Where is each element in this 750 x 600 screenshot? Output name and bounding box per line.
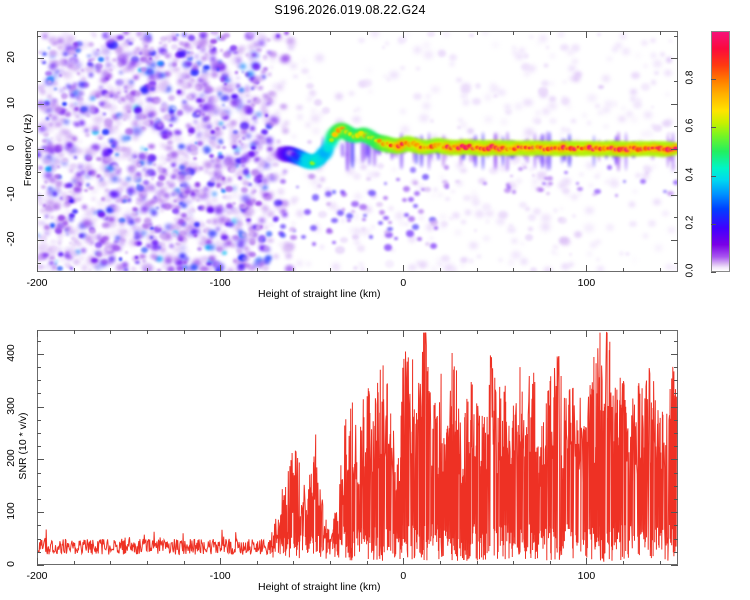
- spectrogram-cell: [306, 123, 311, 127]
- spectrogram-cell: [618, 148, 621, 150]
- spectrogram-cell: [474, 229, 477, 232]
- spectrogram-cell: [78, 91, 84, 96]
- spectrogram-cell: [646, 146, 652, 151]
- spectrogram-cell: [294, 153, 307, 163]
- xtick-minor: [110, 268, 111, 272]
- spectrogram-cell: [150, 186, 155, 190]
- spectrogram-cell: [146, 244, 151, 248]
- snr-panel[interactable]: [37, 330, 678, 565]
- spectrogram-cell: [155, 98, 161, 103]
- spectrogram-cell: [143, 260, 145, 262]
- spectrogram-cell: [251, 80, 254, 82]
- spectrogram-sidelobe: [563, 139, 566, 161]
- spectrogram-cell: [506, 183, 511, 187]
- spectrogram-cell: [256, 146, 262, 151]
- spectrogram-cell: [100, 143, 109, 150]
- spectrogram-cell: [201, 48, 205, 51]
- spectrogram-cell: [112, 164, 118, 169]
- spectrogram-cell: [543, 148, 547, 151]
- spectrogram-cell: [429, 144, 435, 149]
- spectrogram-cell: [222, 177, 226, 180]
- spectrogram-cell: [188, 107, 194, 112]
- spectrogram-cell: [118, 115, 122, 119]
- spectrogram-cell: [557, 144, 569, 154]
- spectrogram-cell: [351, 156, 357, 161]
- spectrogram-cell: [118, 54, 125, 59]
- spectrogram-cell: [169, 152, 177, 159]
- spectrogram-cell: [113, 245, 118, 249]
- spectrogram-cell: [126, 40, 129, 43]
- spectrogram-cell: [655, 245, 662, 251]
- spectrogram-cell: [215, 105, 223, 112]
- spectrogram-cell: [392, 143, 398, 148]
- spectrogram-cell: [244, 212, 251, 218]
- spectrogram-cell: [276, 32, 280, 35]
- spectrogram-cell: [521, 242, 524, 245]
- spectrogram-cell: [160, 194, 168, 201]
- spectrogram-cell: [104, 157, 111, 163]
- spectrogram-cell: [446, 143, 458, 153]
- spectrogram-cell: [182, 100, 186, 104]
- spectrogram-cell: [642, 144, 655, 154]
- spectrogram-cell: [591, 148, 595, 151]
- spectrogram-cell: [513, 148, 516, 150]
- spectrogram-cell: [429, 237, 434, 241]
- spectrogram-cell: [280, 209, 286, 214]
- spectrogram-cell: [125, 93, 135, 101]
- spectrogram-cell: [142, 115, 147, 119]
- colorbar[interactable]: [711, 31, 730, 272]
- xtick-major: [37, 265, 38, 272]
- spectrogram-cell: [206, 262, 212, 267]
- spectrogram-cell: [211, 31, 218, 36]
- spectrogram-cell: [188, 127, 195, 133]
- spectrogram-cell: [65, 229, 67, 231]
- spectrogram-cell: [170, 68, 175, 72]
- spectrogram-cell: [218, 63, 223, 67]
- spectrogram-cell: [301, 156, 313, 166]
- spectrogram-sidelobe: [462, 141, 465, 160]
- spectrogram-cell: [238, 254, 247, 261]
- spectrogram-cell: [262, 206, 268, 211]
- spectrogram-cell: [187, 56, 194, 61]
- spectrogram-cell: [430, 145, 434, 148]
- spectrogram-sidelobe: [536, 142, 539, 158]
- spectrogram-cell: [615, 154, 624, 161]
- spectrogram-cell: [50, 178, 57, 184]
- spectrogram-cell: [413, 142, 425, 152]
- spectrogram-cell: [69, 103, 75, 108]
- spectrogram-cell: [164, 255, 173, 263]
- spectrogram-cell: [373, 144, 379, 149]
- spectrogram-cell: [99, 137, 102, 140]
- ytick-label: 0: [5, 130, 17, 166]
- spectrogram-cell: [382, 139, 397, 151]
- xtick-minor: [440, 561, 441, 565]
- spectrogram-cell: [460, 122, 468, 128]
- spectrogram-cell: [183, 161, 189, 166]
- spectrogram-cell: [631, 72, 640, 80]
- spectrogram-cell: [375, 135, 383, 142]
- spectrogram-cell: [272, 94, 277, 98]
- spectrogram-cell: [84, 83, 89, 87]
- spectrogram-cell: [63, 247, 71, 254]
- spectrogram-cell: [73, 122, 76, 124]
- spectrogram-cell: [146, 240, 152, 245]
- spectrogram-cell: [593, 143, 607, 154]
- spectrogram-cell: [348, 131, 359, 140]
- spectrogram-cell: [125, 128, 133, 135]
- spectrogram-cell: [428, 143, 437, 150]
- spectrogram-cell: [77, 242, 83, 247]
- spectrogram-cell: [42, 222, 44, 224]
- spectrogram-cell: [54, 88, 56, 90]
- spectrogram-cell: [90, 91, 99, 98]
- spectrogram-cell: [651, 80, 656, 84]
- spectrogram-cell: [38, 166, 43, 170]
- spectrogram-cell: [344, 130, 349, 134]
- spectrogram-cell: [96, 68, 101, 72]
- spectrogram-cell: [51, 60, 60, 67]
- spectrogram-cell: [181, 203, 188, 208]
- spectrogram-cell: [96, 174, 101, 178]
- spectrogram-cell: [222, 236, 231, 243]
- spectrogram-cell: [206, 121, 212, 126]
- spectrogram-cell: [248, 265, 255, 271]
- spectrogram-cell: [244, 247, 248, 251]
- spectrogram-cell: [497, 143, 508, 152]
- spectrogram-cell: [70, 170, 73, 172]
- spectrogram-cell: [361, 130, 376, 142]
- spectrogram-cell: [205, 239, 212, 245]
- spectrogram-cell: [127, 82, 130, 84]
- spectrogram-cell: [204, 85, 211, 91]
- spectrogram-cell: [190, 264, 198, 270]
- xtick-major: [586, 265, 587, 272]
- xtick-minor: [330, 561, 331, 565]
- spectrogram-cell: [270, 66, 274, 69]
- spectrogram-cell: [346, 168, 355, 175]
- spectrogram-cell: [39, 105, 46, 111]
- spectrogram-sidelobe: [430, 141, 433, 158]
- spectrogram-cell: [483, 236, 489, 241]
- spectrogram-cell: [168, 114, 177, 121]
- spectrogram-cell: [385, 232, 393, 238]
- spectrogram-cell: [419, 114, 429, 122]
- spectrogram-cell: [593, 144, 602, 151]
- spectrogram-cell: [69, 49, 76, 55]
- spectrogram-cell: [246, 218, 251, 222]
- spectrogram-cell: [256, 226, 260, 229]
- spectrogram-cell: [268, 127, 271, 129]
- spectrogram-cell: [156, 76, 160, 79]
- spectrogram-cell: [267, 149, 270, 151]
- spectrogram-cell: [363, 134, 367, 137]
- spectrogram-cell: [259, 225, 263, 228]
- spectrogram-cell: [220, 94, 224, 97]
- spectrogram-cell: [154, 196, 157, 198]
- spectrogram-cell: [231, 218, 239, 224]
- spectrogram-cell: [45, 139, 48, 142]
- spectrogram-cell: [255, 235, 258, 238]
- spectrogram-cell: [232, 202, 236, 205]
- spectrogram-cell: [596, 145, 605, 152]
- spectrogram-cell: [246, 208, 255, 216]
- spectrogram-cell: [227, 268, 234, 272]
- spectrogram-cell: [383, 140, 391, 147]
- spectrogram-cell: [257, 33, 265, 40]
- spectrogram-cell: [373, 172, 380, 178]
- spectrogram-cell: [370, 136, 383, 147]
- spectrogram-cell: [135, 91, 141, 96]
- spectrogram-cell: [266, 210, 273, 216]
- ytick-minor-right: [674, 499, 678, 500]
- spectrogram-cell: [196, 226, 199, 228]
- spectrogram-cell: [594, 146, 599, 150]
- spectrogram-cell: [662, 148, 666, 152]
- spectrogram-cell: [461, 83, 470, 90]
- spectrogram-cell: [101, 91, 105, 95]
- spectrogram-cell: [399, 139, 412, 149]
- spectrogram-cell: [530, 267, 537, 272]
- spectrogram-cell: [109, 205, 117, 211]
- spectrogram-cell: [649, 143, 662, 154]
- spectrogram-panel[interactable]: [37, 31, 678, 272]
- spectrogram-cell: [157, 181, 164, 187]
- spectrogram-cell: [550, 143, 564, 155]
- spectrogram-sidelobe: [593, 135, 596, 167]
- spectrogram-cell: [337, 210, 344, 216]
- spectrogram-cell: [91, 197, 96, 201]
- spectrogram-cell: [94, 226, 98, 229]
- spectrogram-cell: [604, 125, 608, 128]
- spectrogram-cell: [421, 144, 429, 150]
- spectrogram-cell: [187, 201, 191, 204]
- spectrogram-cell: [53, 99, 56, 102]
- xtick-major-top: [220, 31, 221, 38]
- spectrogram-cell: [590, 143, 604, 155]
- spectrogram-cell: [209, 269, 213, 272]
- spectrogram-cell: [546, 147, 551, 151]
- spectrogram-cell: [254, 98, 257, 101]
- spectrogram-cell: [172, 190, 179, 196]
- spectrogram-cell: [177, 235, 182, 239]
- spectrogram-cell: [416, 261, 421, 265]
- spectrogram-cell: [55, 203, 60, 207]
- spectrogram-cell: [87, 155, 91, 158]
- spectrogram-cell: [55, 122, 62, 128]
- spectrogram-cell: [485, 210, 494, 217]
- spectrogram-cell: [209, 140, 214, 144]
- spectrogram-cell: [443, 184, 448, 188]
- spectrogram-cell: [233, 51, 237, 55]
- spectrogram-cell: [119, 258, 122, 260]
- spectrogram-cell: [49, 245, 59, 253]
- spectrogram-cell: [263, 239, 266, 241]
- spectrogram-cell: [67, 211, 72, 215]
- spectrogram-cell: [196, 138, 205, 146]
- spectrogram-cell: [320, 245, 325, 249]
- spectrogram-sidelobe: [420, 135, 423, 167]
- spectrogram-cell: [183, 169, 190, 175]
- spectrogram-cell: [281, 124, 287, 129]
- spectrogram-cell: [118, 229, 127, 236]
- spectrogram-cell: [137, 113, 144, 119]
- spectrogram-cell: [79, 256, 84, 260]
- spectrogram-cell: [565, 128, 571, 133]
- spectrogram-cell: [140, 264, 144, 267]
- spectrogram-cell: [231, 94, 238, 100]
- spectrogram-cell: [470, 142, 485, 154]
- spectrogram-cell: [222, 104, 225, 107]
- spectrogram-cell: [585, 143, 597, 153]
- spectrogram-cell: [438, 193, 443, 197]
- spectrogram-cell: [399, 145, 408, 153]
- spectrogram-cell: [245, 262, 249, 265]
- spectrogram-cell: [216, 268, 223, 272]
- spectrogram-cell: [58, 51, 64, 56]
- spectrogram-cell: [131, 154, 137, 159]
- spectrogram-cell: [64, 262, 71, 268]
- spectrogram-cell: [56, 198, 64, 205]
- spectrogram-cell: [607, 147, 610, 149]
- spectrogram-cell: [215, 31, 217, 33]
- spectrogram-cell: [651, 53, 657, 58]
- spectrogram-cell: [190, 38, 198, 45]
- spectrogram-cell: [280, 55, 289, 63]
- spectrogram-cell: [408, 264, 416, 271]
- spectrogram-cell: [64, 71, 71, 77]
- spectrogram-cell: [263, 55, 267, 58]
- spectrogram-cell: [62, 53, 66, 56]
- spectrogram-cell: [90, 170, 96, 175]
- spectrogram-cell: [106, 166, 113, 172]
- spectrogram-cell: [141, 247, 148, 253]
- spectrogram-cell: [575, 145, 581, 150]
- spectrogram-cell: [510, 156, 519, 164]
- spectrogram-cell: [47, 76, 53, 81]
- spectrogram-cell: [175, 242, 181, 247]
- spectrogram-cell: [644, 112, 651, 118]
- spectrogram-cell: [151, 97, 160, 104]
- colorbar-tick: [711, 272, 716, 273]
- spectrogram-cell: [124, 114, 128, 117]
- spectrogram-cell: [647, 147, 652, 151]
- spectrogram-cell: [111, 256, 114, 258]
- spectrogram-cell: [211, 142, 216, 146]
- spectrogram-cell: [444, 165, 449, 169]
- spectrogram-cell: [159, 243, 162, 246]
- spectrogram-cell: [279, 191, 282, 194]
- spectrogram-cell: [384, 244, 392, 251]
- spectrogram-cell: [137, 161, 143, 166]
- spectrogram-sidelobe: [575, 144, 578, 157]
- spectrogram-cell: [140, 38, 142, 40]
- spectrogram-cell: [665, 264, 673, 271]
- spectrogram-cell: [400, 142, 404, 146]
- spectrogram-cell: [439, 223, 446, 229]
- spectrogram-cell: [85, 219, 93, 226]
- spectrogram-cell: [57, 175, 62, 179]
- spectrogram-sidelobe: [373, 136, 376, 166]
- spectrogram-cell: [120, 153, 128, 160]
- spectrogram-cell: [216, 109, 222, 114]
- spectrogram-cell: [314, 184, 321, 190]
- spectrogram-cell: [542, 159, 549, 164]
- spectrogram-cell: [181, 230, 188, 235]
- spectrogram-cell: [197, 184, 200, 186]
- spectrogram-cell: [296, 210, 304, 217]
- spectrogram-cell: [506, 148, 509, 151]
- spectrogram-cell: [454, 143, 465, 152]
- spectrogram-cell: [82, 127, 90, 133]
- spectrogram-cell: [85, 157, 88, 160]
- spectrogram-cell: [329, 203, 336, 209]
- spectrogram-cell: [78, 81, 86, 88]
- spectrogram-cell: [165, 35, 173, 42]
- spectrogram-cell: [180, 164, 186, 169]
- spectrogram-cell: [44, 140, 49, 144]
- spectrogram-cell: [657, 143, 672, 155]
- spectrogram-cell: [400, 66, 405, 70]
- spectrogram-cell: [356, 108, 360, 111]
- ytick-label: 200: [5, 440, 17, 476]
- spectrogram-cell: [512, 147, 517, 151]
- spectrogram-cell: [258, 137, 263, 141]
- spectrogram-cell: [205, 170, 209, 173]
- spectrogram-cell: [372, 137, 385, 148]
- spectrogram-cell: [174, 169, 178, 173]
- spectrogram-cell: [177, 110, 181, 113]
- spectrogram-cell: [156, 71, 159, 73]
- spectrogram-cell: [644, 147, 648, 150]
- spectrogram-cell: [450, 142, 463, 153]
- spectrogram-cell: [293, 230, 297, 233]
- spectrogram-cell: [583, 145, 589, 150]
- spectrogram-cell: [63, 33, 66, 36]
- spectrogram-cell: [430, 119, 434, 122]
- spectrogram-cell: [489, 86, 498, 93]
- spectrogram-cell: [456, 146, 462, 151]
- spectrogram-cell: [84, 189, 88, 192]
- spectrogram-cell: [545, 143, 559, 155]
- spectrogram-cell: [147, 160, 153, 165]
- spectrogram-cell: [227, 77, 234, 83]
- spectrogram-cell: [191, 262, 197, 267]
- spectrogram-cell: [181, 247, 185, 251]
- spectrogram-cell: [199, 167, 203, 171]
- spectrogram-cell: [438, 50, 446, 57]
- spectrogram-cell: [292, 222, 295, 224]
- spectrogram-cell: [210, 136, 216, 141]
- spectrogram-sidelobe: [615, 136, 618, 165]
- spectrogram-cell: [340, 237, 347, 243]
- spectrogram-cell: [51, 40, 59, 46]
- spectrogram-cell: [643, 165, 649, 170]
- spectrogram-cell: [174, 58, 179, 62]
- spectrogram-cell: [554, 147, 557, 149]
- spectrogram-cell: [131, 267, 136, 271]
- spectrogram-cell: [79, 120, 86, 126]
- spectrogram-cell: [407, 142, 412, 146]
- spectrogram-cell: [312, 156, 320, 163]
- spectrogram-cell: [64, 120, 69, 124]
- spectrogram-cell: [516, 144, 527, 153]
- spectrogram-cell: [78, 223, 84, 228]
- spectrogram-cell: [205, 162, 212, 168]
- xtick-major: [586, 558, 587, 565]
- spectrogram-cell: [239, 232, 245, 237]
